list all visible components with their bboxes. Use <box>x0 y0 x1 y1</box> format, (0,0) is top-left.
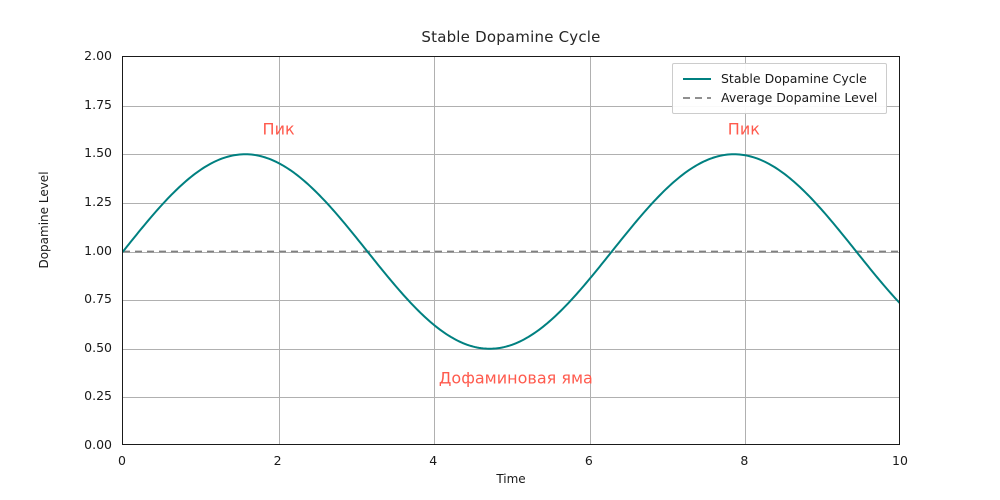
x-tick-mark <box>122 444 123 445</box>
y-tick-label: 1.25 <box>0 194 112 209</box>
y-tick-label: 1.75 <box>0 97 112 112</box>
legend-line-swatch-solid-icon <box>682 73 712 85</box>
x-tick-mark <box>745 444 746 445</box>
x-tick-label: 8 <box>704 453 784 468</box>
x-tick-label: 6 <box>549 453 629 468</box>
chart-figure: Stable Dopamine Cycle Dopamine Level Tim… <box>0 0 1000 500</box>
legend-item-stable-dopamine-cycle: Stable Dopamine Cycle <box>682 69 877 88</box>
x-tick-mark <box>278 444 279 445</box>
y-tick-label: 1.00 <box>0 243 112 258</box>
y-tick-label: 0.25 <box>0 388 112 403</box>
x-tick-label: 2 <box>238 453 318 468</box>
y-tick-label: 0.75 <box>0 291 112 306</box>
chart-legend: Stable Dopamine Cycle Average Dopamine L… <box>672 63 887 114</box>
x-tick-mark <box>434 444 435 445</box>
x-tick-label: 10 <box>860 453 940 468</box>
legend-label: Average Dopamine Level <box>721 90 877 105</box>
y-axis-label: Dopamine Level <box>37 160 51 280</box>
x-tick-label: 0 <box>82 453 162 468</box>
legend-item-average-dopamine-level: Average Dopamine Level <box>682 88 877 107</box>
x-tick-mark <box>589 444 590 445</box>
plot-area: ПикДофаминовая ямаПик Stable Dopamine Cy… <box>122 56 900 445</box>
x-axis-label: Time <box>122 472 900 486</box>
legend-line-swatch-dashed-icon <box>682 92 712 104</box>
data-layer <box>123 57 900 445</box>
legend-label: Stable Dopamine Cycle <box>721 71 867 86</box>
y-tick-label: 0.00 <box>0 437 112 452</box>
chart-title: Stable Dopamine Cycle <box>122 28 900 46</box>
x-tick-label: 4 <box>393 453 473 468</box>
y-tick-label: 1.50 <box>0 145 112 160</box>
y-tick-label: 0.50 <box>0 340 112 355</box>
y-tick-label: 2.00 <box>0 48 112 63</box>
